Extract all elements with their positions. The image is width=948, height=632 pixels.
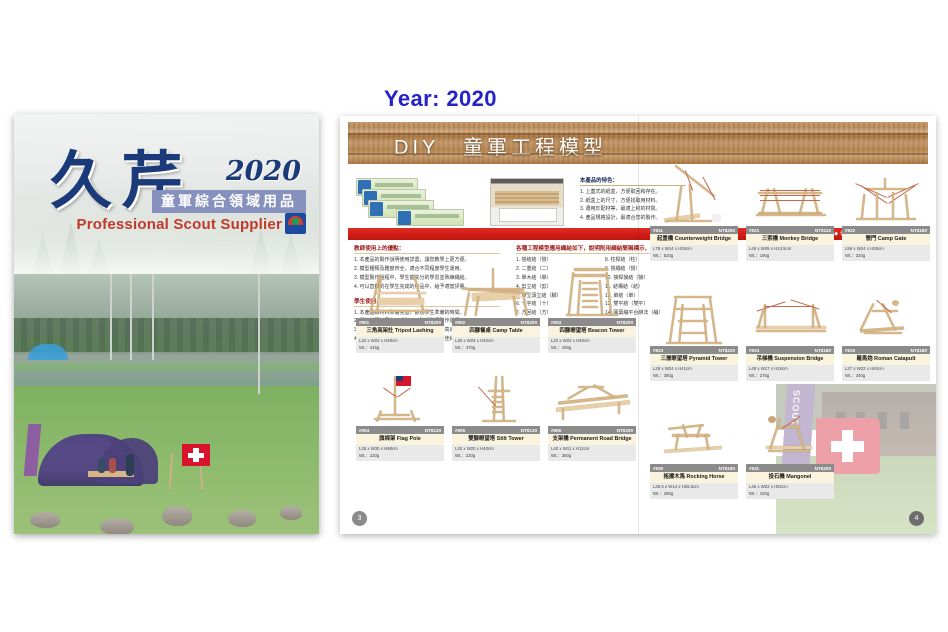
product-weight: Wt.：520g [653,253,735,259]
product-name-en: Suspension Bridge [774,356,823,362]
catalog-spread: DIY 童軍工程模型 本產品的特色： 1. 上蓋式的紙盒，方便取回和存在。 2.… [340,116,936,534]
product-image-stilt-tower [452,374,540,426]
product-code-bar: #904NT$120 [356,426,444,434]
product-name: 旗桿架 Flag Pole [356,434,444,445]
product-spec: L48 x W17 x H15cmWt.：275g [746,365,834,381]
product-card[interactable]: #901NT$200三角高架灶 Tripod LashingL32 x W22 … [356,266,444,353]
product-name-en: Stilt Tower [497,436,524,442]
catalog-cover: 久芹 2020 童軍綜合領域用品 Professional Scout Supp… [14,114,319,534]
product-image-flag-pole [356,374,444,426]
product-name: 起重橋 Counterweight Bridge [650,234,738,245]
product-code-bar: #931NT$200 [746,464,834,472]
product-card[interactable]: #906NT$200支架橋 Permanent Road BridgeL40 x… [548,374,636,461]
product-code: #903 [551,320,561,325]
product-image-monkey-bridge [746,174,834,226]
product-price: NT$200 [617,320,633,325]
product-image-mangonel [746,412,834,464]
product-image-pyramid-tower [650,294,738,346]
product-card[interactable]: #904NT$120旗桿架 Flag PoleL35 x W30 x H58cm… [356,374,444,461]
product-weight: Wt.：380g [653,373,735,379]
product-weight: Wt.：275g [749,373,831,379]
scout-logo-icon [285,213,306,234]
product-card[interactable]: #921NT$110三索橋 Monkey BridgeL48 x W45 x H… [746,174,834,261]
product-spec: L35 x W30 x H58cmWt.：220g [356,445,444,461]
product-weight: Wt.：470g [455,345,537,351]
product-price: NT$200 [425,320,441,325]
product-card[interactable]: #902NT$200四腳餐桌 Camp TableL30 x W24 x H34… [452,266,540,353]
product-card[interactable]: #923NT$220三層瞭望塔 Pyramid TowerL28 x W24 x… [650,294,738,381]
product-image-tripod-lashing [356,266,444,318]
product-code: #930 [653,466,663,471]
cover-tagline-chinese: 童軍綜合領域用品 [152,190,306,213]
teacher-panel-title: 教師使用上的優點： [354,244,500,254]
product-weight: Wt.：340g [845,373,927,379]
swiss-flag-icon [182,444,210,466]
product-name: 三索橋 Monkey Bridge [746,234,834,245]
product-name-cn: 三角高架灶 [366,328,393,334]
product-spec: L46 x W22 x H52cmWt.：330g [746,483,834,499]
product-weight: Wt.：350g [551,453,633,459]
product-price: NT$110 [815,228,831,233]
product-weight: Wt.：415g [359,345,441,351]
product-code: #901 [359,320,369,325]
product-name-cn: 吊梯橋 [757,356,773,362]
product-name-en: Counterweight Bridge [675,236,731,242]
product-code-bar: #925NT$180 [842,346,930,354]
product-image-camp-gate [842,174,930,226]
product-code-bar: #924NT$180 [746,346,834,354]
product-price: NT$200 [815,466,831,471]
product-name: 營門 Camp Gate [842,234,930,245]
product-spec: L27 x W22 x H40cmWt.：340g [842,365,930,381]
product-code: #921 [749,228,759,233]
product-code: #931 [749,466,759,471]
product-spec: L56 x W24 x H36cmWt.：320g [842,245,930,261]
product-spec: L28.5 x W14 x H28.5cmWt.：280g [650,483,738,499]
product-name-cn: 搖擺木馬 [663,474,685,480]
product-name-cn: 三層瞭望塔 [661,356,688,362]
product-price: NT$200 [617,428,633,433]
product-weight: Wt.：320g [845,253,927,259]
product-weight: Wt.：220g [455,453,537,459]
product-name-cn: 三索橋 [762,236,778,242]
product-spec: L22 x W22 x H40cmWt.：400g [548,337,636,353]
product-name-cn: 雙腳瞭望塔 [468,436,495,442]
product-code: #905 [455,428,465,433]
product-spec: L20 x W20 x H40cmWt.：220g [452,445,540,461]
product-price: NT$200 [521,320,537,325]
kit-tray-photo [490,178,564,226]
product-code: #924 [749,348,759,353]
product-name: 吊梯橋 Suspension Bridge [746,354,834,365]
product-code-bar: #906NT$200 [548,426,636,434]
product-name-cn: 投石機 [769,474,785,480]
year-label: Year: 2020 [384,86,497,112]
product-image-beacon-tower [548,266,636,318]
product-name: 投石機 Mangonel [746,472,834,483]
product-code-bar: #903NT$200 [548,318,636,326]
product-card[interactable]: #925NT$180羅馬炮 Roman CatapultL27 x W22 x … [842,294,930,381]
spread-title: DIY 童軍工程模型 [394,131,607,160]
teacher-item: 1. 本產品的製作說明使用詳盡，讓您教學上更方便。 [354,256,500,265]
product-image-counterweight-bridge [650,174,738,226]
product-name-cn: 羅馬炮 [856,356,872,362]
product-card[interactable]: #905NT$130雙腳瞭望塔 Stilt TowerL20 x W20 x H… [452,374,540,461]
product-name-en: Rocking Horse [687,474,725,480]
product-name-cn: 四腳餐桌 [469,328,491,334]
product-code-bar: #930NT$180 [650,464,738,472]
product-code-bar: #921NT$110 [746,226,834,234]
product-weight: Wt.：330g [749,491,831,497]
product-spec: L40 x W11 x H12cmWt.：350g [548,445,636,461]
product-name: 支架橋 Permanent Road Bridge [548,434,636,445]
product-code: #925 [845,348,855,353]
cover-photo [14,274,319,534]
spread-gutter [638,116,639,534]
product-image-suspension-bridge [746,294,834,346]
page-number-right: 4 [909,511,924,526]
product-name: 搖擺木馬 Rocking Horse [650,472,738,483]
product-card[interactable]: #911NT$250起重橋 Counterweight BridgeL78 x … [650,174,738,261]
product-spec: L32 x W22 x H28cmWt.：415g [356,337,444,353]
product-price: NT$130 [521,428,537,433]
product-image-camp-table [452,266,540,318]
product-card[interactable]: #903NT$200四腳瞭望塔 Beacon TowerL22 x W22 x … [548,266,636,353]
packaging-photo [356,176,468,226]
product-name-en: Permanent Road Bridge [570,436,631,442]
page-number-left: 3 [352,511,367,526]
product-price: NT$180 [911,348,927,353]
product-code-bar: #922NT$180 [842,226,930,234]
product-price: NT$250 [719,228,735,233]
product-code-bar: #902NT$200 [452,318,540,326]
product-weight: Wt.：190g [749,253,831,259]
product-code: #923 [653,348,663,353]
product-price: NT$220 [719,348,735,353]
product-name-cn: 營門 [866,236,877,242]
product-code-bar: #905NT$130 [452,426,540,434]
product-weight: Wt.：400g [551,345,633,351]
product-code: #906 [551,428,561,433]
product-name: 三角高架灶 Tripod Lashing [356,326,444,337]
product-card[interactable]: #922NT$180營門 Camp GateL56 x W24 x H36cmW… [842,174,930,261]
product-price: NT$180 [815,348,831,353]
product-weight: Wt.：220g [359,453,441,459]
product-weight: Wt.：280g [653,491,735,497]
product-code-bar: #911NT$250 [650,226,738,234]
product-code: #904 [359,428,369,433]
product-spec: L78 x W14 x H35cmWt.：520g [650,245,738,261]
product-name: 四腳瞭望塔 Beacon Tower [548,326,636,337]
product-image-rocking-horse [650,412,738,464]
product-name: 羅馬炮 Roman Catapult [842,354,930,365]
product-code: #922 [845,228,855,233]
product-code-bar: #923NT$220 [650,346,738,354]
product-name-en: Flag Pole [397,436,421,442]
product-name-cn: 四腳瞭望塔 [560,328,587,334]
product-price: NT$120 [425,428,441,433]
product-name-en: Monkey Bridge [780,236,819,242]
product-spec: L48 x W45 x H13.5cmWt.：190g [746,245,834,261]
product-price: NT$180 [719,466,735,471]
product-name: 四腳餐桌 Camp Table [452,326,540,337]
knot-item: 1. 營結結（營） [516,256,597,265]
product-name-en: Mangonel [786,474,811,480]
product-card[interactable]: #931NT$200投石機 MangonelL46 x W22 x H52cmW… [746,412,834,499]
product-name: 三層瞭望塔 Pyramid Tower [650,354,738,365]
product-name-en: Pyramid Tower [689,356,727,362]
product-code: #902 [455,320,465,325]
cover-tagline-english: Professional Scout Supplier [77,216,282,233]
product-name-en: Camp Gate [878,236,906,242]
product-image-roman-catapult [842,294,930,346]
product-name-en: Camp Table [492,328,522,334]
product-name-cn: 旗桿架 [379,436,395,442]
product-card[interactable]: #924NT$180吊梯橋 Suspension BridgeL48 x W17… [746,294,834,381]
product-code-bar: #901NT$200 [356,318,444,326]
product-name: 雙腳瞭望塔 Stilt Tower [452,434,540,445]
cover-year: 2020 [226,156,301,187]
product-spec: L30 x W24 x H34cmWt.：470g [452,337,540,353]
product-image-road-bridge [548,374,636,426]
product-price: NT$180 [911,228,927,233]
product-name-en: Roman Catapult [874,356,915,362]
product-spec: L28 x W24 x H41cmWt.：380g [650,365,738,381]
product-name-cn: 起重橋 [657,236,673,242]
product-name-en: Tripod Lashing [395,328,434,334]
product-code: #911 [653,228,663,233]
product-name-en: Beacon Tower [588,328,624,334]
product-card[interactable]: #930NT$180搖擺木馬 Rocking HorseL28.5 x W14 … [650,412,738,499]
product-name-cn: 支架橋 [552,436,568,442]
